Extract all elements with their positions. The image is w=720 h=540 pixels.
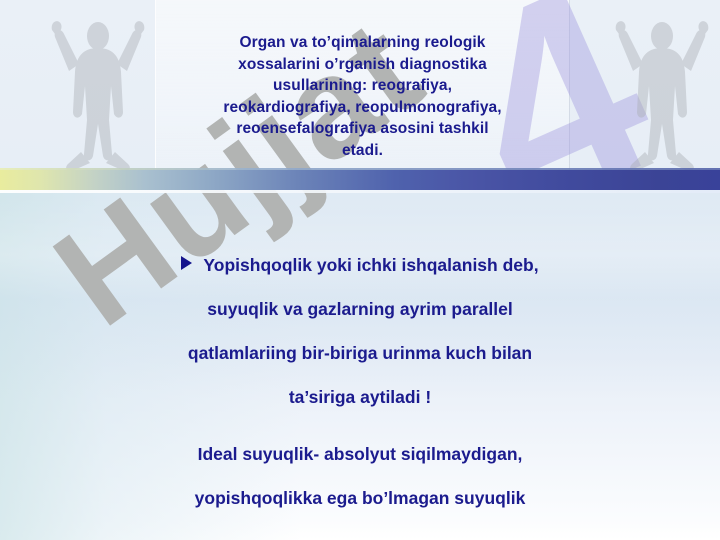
body-line-text: yopishqoqlikka ega bo’lmagan suyuqlik — [60, 476, 660, 520]
title-line: reoensefalografiya asosini tashkil — [160, 118, 565, 140]
bullet-first-line: Yopishqoqlik yoki ichki ishqalanish deb, — [60, 243, 660, 287]
body-paragraph-one: Yopishqoqlik yoki ichki ishqalanish deb,… — [60, 243, 660, 419]
body-line-text: Yopishqoqlik yoki ichki ishqalanish deb, — [203, 255, 538, 275]
title-line: Organ va to’qimalarning reologik — [160, 32, 565, 54]
body-line-text: ta’siriga aytiladi ! — [60, 375, 660, 419]
slide-title: Organ va to’qimalarning reologik xossala… — [160, 32, 565, 161]
title-line: etadi. — [160, 140, 565, 162]
divider-band — [0, 170, 720, 190]
triangle-bullet-icon — [181, 256, 192, 270]
title-line: reokardiografiya, reopulmonografiya, — [160, 97, 565, 119]
title-line: xossalarini o’rganish diagnostika — [160, 54, 565, 76]
body-paragraph-two: Ideal suyuqlik- absolyut siqilmaydigan, … — [60, 432, 660, 520]
body-line-text: suyuqlik va gazlarning ayrim parallel — [60, 287, 660, 331]
body-line-text: Ideal suyuqlik- absolyut siqilmaydigan, — [60, 432, 660, 476]
title-line: usullarining: reografiya, — [160, 75, 565, 97]
divider-hairline-bottom — [0, 190, 720, 193]
presentation-slide: 4 — [0, 0, 720, 540]
body-line-text: qatlamlariing bir-biriga urinma kuch bil… — [60, 331, 660, 375]
